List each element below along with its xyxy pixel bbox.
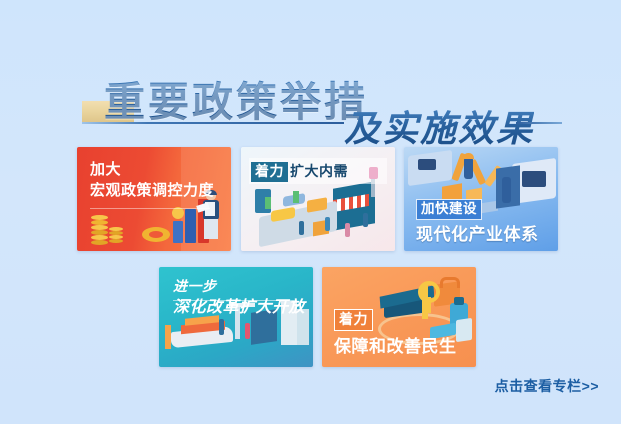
- pedestrian-3-icon: [345, 223, 350, 237]
- view-column-link[interactable]: 点击查看专栏>>: [495, 376, 599, 396]
- graph-bars-icon: [165, 325, 171, 349]
- worker-orange-icon: [464, 157, 473, 179]
- medicine-cap-icon: [454, 297, 464, 305]
- card1-divider: [90, 208, 210, 209]
- card5-title: 保障和改善民生: [334, 337, 457, 357]
- policy-card-reform-opening[interactable]: 进一步 深化改革扩大开放: [159, 267, 313, 367]
- worker-dock-3-icon: [271, 325, 276, 341]
- card4-badge: 进一步: [173, 278, 305, 295]
- card1-text-block: 加大 宏观政策调控力度: [90, 161, 214, 199]
- card4-title: 深化改革扩大开放: [173, 299, 305, 318]
- person-figure-icon: [201, 191, 223, 247]
- card3-text-block: 加快建设 现代化产业体系: [416, 199, 539, 245]
- policy-card-industrial-system[interactable]: 加快建设 现代化产业体系: [404, 147, 558, 251]
- card1-badge: 加大: [90, 161, 214, 179]
- card2-text-block: 着力扩大内需: [251, 162, 348, 182]
- card5-badge: 着力: [334, 309, 373, 331]
- worker-helmet-icon: [463, 153, 474, 159]
- title-line-2: 及实施效果: [344, 100, 534, 152]
- title-tail-rule: [516, 122, 562, 124]
- pedestrian-2-icon: [325, 217, 330, 231]
- pedestrian-4-icon: [363, 213, 368, 227]
- card3-title: 现代化产业体系: [416, 225, 539, 245]
- calculator-icon: [456, 318, 472, 342]
- tree-icon: [265, 197, 271, 209]
- card1-title: 宏观政策调控力度: [90, 182, 214, 200]
- machine-right-panel-icon: [522, 171, 546, 187]
- worker-dock-icon: [219, 319, 224, 335]
- toolbox-handle-icon: [440, 277, 460, 288]
- card3-badge: 加快建设: [416, 199, 482, 220]
- pedestrian-1-icon: [299, 221, 304, 235]
- card2-title: 扩大内需: [290, 163, 348, 179]
- card4-text-block: 进一步 深化改革扩大开放: [173, 278, 305, 317]
- card2-badge: 着力: [251, 162, 288, 182]
- policy-card-macro-control[interactable]: 加大 宏观政策调控力度: [77, 147, 231, 251]
- machine-screen-icon: [418, 159, 436, 170]
- worker-dock-2-icon: [245, 323, 250, 339]
- policy-card-livelihood[interactable]: 着力 保障和改善民生: [322, 267, 476, 367]
- page-title: 重要政策举措 及实施效果: [0, 30, 621, 130]
- card5-text-block: 着力 保障和改善民生: [334, 309, 457, 357]
- poster-canvas: 重要政策举措 及实施效果: [0, 0, 621, 424]
- key-head-icon: [418, 281, 440, 303]
- title-line-1: 重要政策举措: [104, 68, 368, 128]
- policy-card-expand-demand[interactable]: 着力扩大内需: [241, 147, 395, 251]
- tree-2-icon: [293, 191, 299, 203]
